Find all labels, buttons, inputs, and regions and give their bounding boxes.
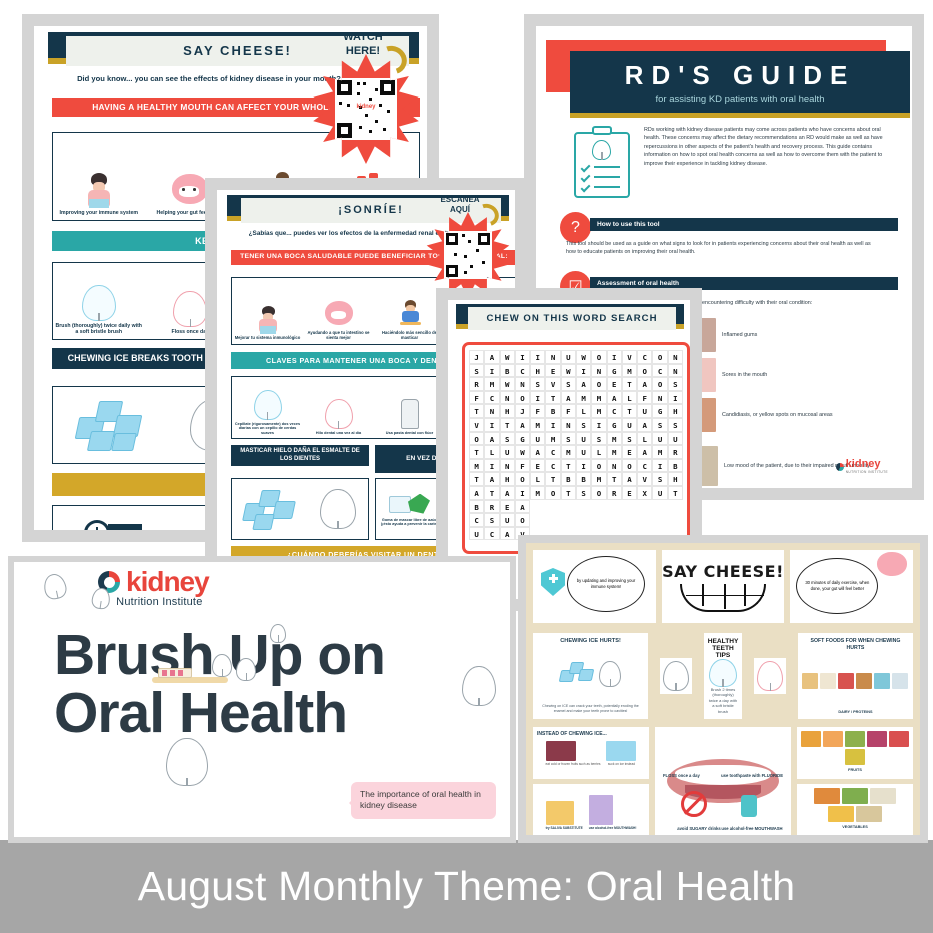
word-search-cell: U — [530, 432, 545, 446]
word-search-cell: S — [469, 364, 484, 378]
toothpaste-tube-icon — [401, 399, 419, 429]
rds-guide-intro: RDs working with kidney disease patients… — [644, 126, 898, 168]
word-search-cell — [530, 500, 545, 514]
word-search-cell: T — [668, 486, 683, 500]
section-how-to-use-header: How to use this tool — [590, 218, 898, 231]
word-search-cell: V — [637, 472, 652, 486]
poster-cover-brush-up[interactable]: kidney Nutrition Institute Brush Up on O… — [8, 556, 516, 843]
card-label: FRUITS — [801, 768, 909, 772]
word-search-cell — [622, 513, 637, 527]
word-search-cell: A — [637, 377, 652, 391]
cartoon-tooth-icon — [166, 738, 208, 786]
word-search-cell: I — [545, 418, 560, 432]
word-search-cell: U — [561, 350, 576, 364]
cheese-card-chewing-ice-hurts: CHEWING ICE HURTS! Chewing on ICE can cr… — [533, 633, 648, 719]
word-search-cell: M — [561, 445, 576, 459]
word-search-cell: U — [469, 527, 484, 541]
kidney-logo: kidney NUTRITION INSTITUTE — [836, 459, 888, 474]
word-search-cell — [561, 513, 576, 527]
key-item: Usa pasta dental con flúor — [374, 377, 445, 438]
word-search-cell: B — [500, 364, 515, 378]
speech-bubble-gut: 30 minutes of daily exercise, when done,… — [796, 558, 878, 614]
word-search-cell: S — [622, 432, 637, 446]
word-search-cell: C — [607, 404, 622, 418]
benefit-item: Haciéndolo más sencillo de masticar — [374, 278, 445, 344]
card-title: CHEWING ICE HURTS! — [560, 638, 621, 644]
word-search-cell: F — [561, 404, 576, 418]
gut-illustration — [322, 299, 356, 331]
word-search-cell — [591, 513, 606, 527]
word-search-cell: S — [591, 432, 606, 446]
cracked-tooth-icon — [599, 661, 621, 687]
word-search-cell: O — [515, 513, 530, 527]
word-search-cell: A — [500, 486, 515, 500]
scan-line-2: AQUÍ — [429, 205, 491, 215]
word-search-cell: I — [530, 391, 545, 405]
word-search-cell: I — [515, 350, 530, 364]
word-search-cell: M — [484, 377, 499, 391]
cheese-card-mouth-diagram: FLOSS once a day use toothpaste with FLU… — [655, 727, 791, 835]
word-search-cell: U — [500, 445, 515, 459]
ice-illustration-row-left — [231, 478, 369, 540]
when-item: Every 6 months! — [53, 506, 175, 530]
word-search-cell: U — [652, 432, 667, 446]
poster-say-cheese-grid[interactable]: by updating and improving your immune sy… — [518, 535, 928, 843]
poster-title: SAY CHEESE! — [183, 43, 292, 58]
toothbrush-icon — [152, 668, 228, 684]
tooth-brushing-icon — [254, 390, 282, 420]
word-search-cell: E — [545, 364, 560, 378]
word-search-cell: L — [622, 391, 637, 405]
word-search-cell: T — [607, 472, 622, 486]
word-search-cell: G — [652, 404, 667, 418]
word-search-cell — [576, 513, 591, 527]
clock-calendar-icon — [84, 517, 144, 530]
tooth-floss-icon — [173, 291, 207, 327]
band-chewing-ice-left: MASTICAR HIELO DAÑA EL ESMALTE DE LOS DI… — [231, 445, 369, 466]
gear-question-icon: ? — [560, 212, 591, 243]
word-search-cell: O — [652, 350, 667, 364]
word-search-cell: N — [561, 418, 576, 432]
word-search-cell: T — [545, 391, 560, 405]
word-search-cell: I — [484, 459, 499, 473]
word-search-cell: N — [607, 459, 622, 473]
benefit-item: Ayudando a que tu intestino se sienta me… — [303, 278, 374, 344]
clipboard-tooth-icon — [570, 126, 634, 200]
scan-line-1: ESCANEA — [429, 195, 491, 205]
ice-cubes-icon — [560, 661, 594, 687]
word-search-cell: A — [622, 472, 637, 486]
frozen-fruit-photo — [546, 741, 576, 761]
word-search-cell: B — [545, 404, 560, 418]
word-search-cell: O — [515, 472, 530, 486]
word-search-cell: S — [500, 432, 515, 446]
soft-foods-photos — [802, 673, 909, 689]
word-search-cell: R — [484, 500, 499, 514]
word-search-cell: M — [652, 445, 667, 459]
saliva-substitute-icon — [546, 801, 574, 825]
cheese-card-instead-of-ice: INSTEAD OF CHEWING ICE... eat cold or fr… — [533, 727, 649, 779]
kidney-logo-mark — [836, 463, 844, 471]
word-search-cell: M — [530, 486, 545, 500]
speech-bubble-immune: by updating and improving your immune sy… — [567, 556, 645, 612]
word-search-cell: M — [591, 391, 606, 405]
word-search-cell: W — [561, 364, 576, 378]
word-search-cell: C — [484, 527, 499, 541]
word-search-cell: H — [530, 364, 545, 378]
word-search-cell: G — [607, 418, 622, 432]
word-search-cell: I — [484, 364, 499, 378]
poster-title: ¡SONRÍE! — [338, 204, 404, 216]
watch-line-1: WATCH — [323, 31, 403, 45]
chewing-gum-icon — [389, 492, 433, 518]
word-search-cell — [530, 513, 545, 527]
word-search-cell: S — [652, 418, 667, 432]
smile-illustration — [680, 584, 766, 612]
word-search-cell: O — [652, 377, 667, 391]
qr-code[interactable]: kidney — [335, 78, 397, 140]
key-item: Cepillate (rigurosamente) dos veces diar… — [232, 377, 303, 438]
tooth-mascot-cell — [654, 633, 698, 719]
flag-mouthwash: use alcohol-free MOUTHWASH — [719, 826, 785, 831]
word-search-cell: C — [515, 364, 530, 378]
gut-illustration — [877, 552, 907, 576]
word-search-cell: A — [515, 418, 530, 432]
kidney-logo: kidney Nutrition Institute — [98, 568, 209, 608]
qr-code[interactable] — [444, 231, 492, 279]
word-search-cell — [668, 513, 683, 527]
word-search-cell: F — [515, 459, 530, 473]
word-search-cell — [622, 500, 637, 514]
word-search-cell: S — [652, 472, 667, 486]
word-search-cell: J — [515, 404, 530, 418]
word-search-cell: V — [469, 418, 484, 432]
word-search-cell: T — [561, 486, 576, 500]
word-search-cell: A — [637, 418, 652, 432]
word-search-cell — [668, 500, 683, 514]
cover-title-line-1: Brush Up on — [54, 626, 414, 684]
word-search-cell: F — [469, 391, 484, 405]
word-search-cell: M — [469, 459, 484, 473]
word-search-cell: S — [530, 377, 545, 391]
immune-illustration — [80, 171, 118, 211]
card-title: HEALTHY TEETH TIPS — [708, 638, 739, 659]
cheese-bottom-block: INSTEAD OF CHEWING ICE... eat cold or fr… — [533, 727, 913, 835]
qr-center-label: kidney — [353, 104, 379, 111]
word-search-cell: A — [530, 445, 545, 459]
word-search-cell: N — [500, 391, 515, 405]
cheese-card-immune: by updating and improving your immune sy… — [533, 550, 656, 623]
word-search-cell: N — [545, 350, 560, 364]
word-search-cell: T — [469, 472, 484, 486]
word-search-cell: U — [652, 486, 667, 500]
word-search-cell: B — [576, 472, 591, 486]
word-search-cell: O — [545, 486, 560, 500]
cover-title-line-2: Oral Health — [54, 684, 414, 742]
word-search-cell: E — [622, 445, 637, 459]
word-search-cell: V — [545, 377, 560, 391]
cheese-card-saliva: try SALIVA SUBSTITUTE use alcohol-free M… — [533, 784, 649, 836]
word-search-cell: U — [637, 404, 652, 418]
no-sugary-drinks-icon — [681, 791, 707, 817]
kidney-logo-word: kidney — [846, 459, 888, 470]
word-search-cell: S — [561, 377, 576, 391]
word-search-cell: H — [500, 404, 515, 418]
word-search-cell: C — [637, 350, 652, 364]
word-search-cell: O — [591, 486, 606, 500]
word-search-cell: N — [515, 377, 530, 391]
word-search-cell: B — [561, 472, 576, 486]
word-search-cell: A — [484, 350, 499, 364]
word-search-cell — [545, 513, 560, 527]
word-search-cell: C — [469, 513, 484, 527]
word-search-cell: A — [607, 391, 622, 405]
word-search-cell: L — [576, 404, 591, 418]
benefit-item: Mejorar tu sistema inmunológico — [232, 278, 303, 344]
word-search-cell: T — [500, 418, 515, 432]
toothbrush-tooth-icon — [757, 661, 783, 691]
word-search-cell: G — [607, 364, 622, 378]
word-search-cell: E — [530, 459, 545, 473]
word-search-cell: I — [484, 418, 499, 432]
word-search-cell — [637, 513, 652, 527]
key-item: Brush (thoroughly) twice daily with a so… — [53, 263, 145, 339]
subhead-question: Did you know... you can see the effects … — [44, 74, 374, 84]
cartoon-tooth-icon — [270, 624, 286, 643]
cheese-card-vegetables: VEGETABLES — [797, 784, 913, 836]
word-search-cell: E — [622, 486, 637, 500]
word-search-cell: M — [591, 404, 606, 418]
screenshot-canvas: SAY CHEESE! WATCH HERE! — [0, 0, 933, 933]
word-search-cell: A — [469, 486, 484, 500]
word-search-cell: I — [652, 459, 667, 473]
rds-guide-subtitle: for assisting KD patients with oral heal… — [656, 94, 825, 105]
cover-sheet: kidney Nutrition Institute Brush Up on O… — [14, 562, 510, 837]
benefit-item: Improving your immune system — [53, 133, 145, 220]
word-search-cell: I — [576, 459, 591, 473]
ice-cubes-icon — [77, 397, 143, 453]
cheese-middle-row: CHEWING ICE HURTS! Chewing on ICE can cr… — [533, 633, 913, 719]
item-label: try SALIVA SUBSTITUTE — [546, 827, 583, 831]
ice-photo — [606, 741, 636, 761]
word-search-cell: E — [500, 500, 515, 514]
key-item: Hilo dental una vez al día — [303, 377, 374, 438]
word-search-cell: U — [576, 432, 591, 446]
word-search-cell: I — [576, 364, 591, 378]
footer-banner: August Monthly Theme: Oral Health — [0, 840, 933, 933]
card-body: Brush 2 times (thoroughly) twice a day w… — [708, 687, 739, 714]
mouthwash-icon — [741, 795, 757, 817]
word-search-cell: O — [591, 377, 606, 391]
word-search-cell: T — [484, 486, 499, 500]
word-search-cell: F — [637, 391, 652, 405]
card-title: SOFT FOODS FOR WHEN CHEWING HURTS — [802, 638, 909, 652]
word-search-cell: L — [484, 445, 499, 459]
cartoon-tooth-icon — [462, 666, 496, 706]
word-search-cell: T — [561, 459, 576, 473]
word-search-cell: S — [668, 418, 683, 432]
word-search-cell: N — [652, 391, 667, 405]
word-search-cell: T — [469, 404, 484, 418]
word-search-cell: R — [469, 377, 484, 391]
card-sub: DAIRY / PROTEINS — [838, 710, 872, 714]
cheese-grid-background: by updating and improving your immune sy… — [526, 543, 920, 835]
word-search-cell: B — [668, 459, 683, 473]
word-search-cell: O — [515, 391, 530, 405]
word-search-cell: X — [637, 486, 652, 500]
word-search-cell: I — [530, 350, 545, 364]
word-search-cell: S — [668, 377, 683, 391]
word-search-cell: T — [622, 377, 637, 391]
word-search-cell: I — [515, 486, 530, 500]
word-search-cell: W — [500, 377, 515, 391]
card-body: Chewing on ICE can crack your teeth, pot… — [537, 704, 644, 714]
word-search-cell: A — [561, 391, 576, 405]
word-search-cell: H — [500, 472, 515, 486]
gold-accent-bar — [570, 113, 910, 118]
word-search-cell: G — [515, 432, 530, 446]
tooth-floss-icon — [325, 399, 353, 429]
word-search-cell: N — [500, 459, 515, 473]
word-search-cell: S — [561, 432, 576, 446]
word-search-cell — [561, 500, 576, 514]
toothbrush-cell — [748, 633, 792, 719]
word-search-cell: T — [469, 445, 484, 459]
word-search-frame: JAWIINUWOIVCONSIBCHEWINGMOCNRMWNSVSAOETA… — [462, 342, 690, 554]
scan-here-label: ESCANEA AQUÍ — [429, 195, 491, 215]
item-label: use alcohol-free MOUTHWASH! — [589, 827, 637, 831]
word-search-cell: R — [668, 445, 683, 459]
watch-here-label: WATCH HERE! — [323, 31, 403, 59]
tooth-brushing-icon — [82, 285, 116, 321]
word-search-cell: O — [637, 364, 652, 378]
word-search-cell: U — [500, 513, 515, 527]
word-search-cell: F — [530, 404, 545, 418]
word-search-cell: M — [607, 445, 622, 459]
word-search-cell: A — [576, 377, 591, 391]
word-search-grid: JAWIINUWOIVCONSIBCHEWINGMOCNRMWNSVSAOETA… — [469, 350, 683, 540]
word-search-cell: I — [607, 350, 622, 364]
word-search-cell: C — [484, 391, 499, 405]
word-search-cell: H — [668, 404, 683, 418]
eating-illustration — [393, 299, 427, 331]
word-search-cell: A — [515, 500, 530, 514]
word-search-cell: W — [515, 445, 530, 459]
word-search-cell: A — [484, 472, 499, 486]
word-search-cell: U — [622, 418, 637, 432]
word-search-cell: L — [530, 472, 545, 486]
word-search-cell: S — [576, 418, 591, 432]
word-search-cell: N — [668, 350, 683, 364]
word-search-cell: O — [469, 432, 484, 446]
cheese-card-title: SAY CHEESE! — [662, 550, 785, 623]
word-search-cell: S — [576, 486, 591, 500]
word-search-cell: J — [469, 350, 484, 364]
word-search-cell: C — [545, 459, 560, 473]
word-search-cell — [607, 513, 622, 527]
say-cheese-title: SAY CHEESE! — [662, 562, 784, 581]
word-search-cell: W — [576, 350, 591, 364]
word-search-cell: N — [668, 364, 683, 378]
header-block: CHEW ON THIS WORD SEARCH — [456, 304, 684, 332]
flag-floss: FLOSS once a day — [663, 773, 700, 778]
word-search-cell — [576, 500, 591, 514]
cheese-card-gut: 30 minutes of daily exercise, when done,… — [790, 550, 913, 623]
word-search-cell: W — [500, 350, 515, 364]
word-search-cell: A — [500, 527, 515, 541]
word-search-cell: L — [637, 432, 652, 446]
word-search-cell: S — [484, 513, 499, 527]
word-search-cell: R — [607, 486, 622, 500]
poster-title-plate: CHEW ON THIS WORD SEARCH — [468, 307, 676, 330]
word-search-cell: O — [591, 459, 606, 473]
word-search-cell: U — [576, 445, 591, 459]
poster-title: CHEW ON THIS WORD SEARCH — [486, 313, 657, 324]
word-search-cell — [545, 500, 560, 514]
word-search-cell: M — [576, 391, 591, 405]
section-how-to-use-body: This tool should be used as a guide on w… — [566, 240, 882, 257]
cheese-card-healthy-tips: HEALTHY TEETH TIPS Brush 2 times (thorou… — [704, 633, 743, 719]
word-search-cell: I — [591, 418, 606, 432]
brushing-tooth-icon — [709, 659, 737, 687]
ice-cubes-icon — [244, 487, 296, 531]
cover-callout-bubble: The importance of oral health in kidney … — [351, 782, 496, 819]
word-search-cell: C — [652, 364, 667, 378]
cheese-card-soft-foods: SOFT FOODS FOR WHEN CHEWING HURTS DAIRY … — [798, 633, 913, 719]
word-search-cell: C — [637, 459, 652, 473]
item-label: eat cold or frozen fruits such as berrie… — [546, 763, 601, 767]
word-search-cell: N — [484, 404, 499, 418]
word-search-cell: N — [591, 364, 606, 378]
flag-fluoride: use toothpaste with FLUORIDE — [721, 773, 783, 778]
footer-caption: August Monthly Theme: Oral Health — [138, 863, 796, 910]
word-search-cell: I — [668, 391, 683, 405]
word-search-cell: T — [545, 472, 560, 486]
word-search-cell: B — [469, 500, 484, 514]
happy-tooth-icon — [663, 661, 689, 691]
word-search-cell: M — [622, 364, 637, 378]
rds-guide-title: RD'S GUIDE — [625, 60, 856, 91]
navy-title-block: RD'S GUIDE for assisting KD patients wit… — [570, 51, 910, 113]
word-search-cell: L — [591, 445, 606, 459]
card-title: INSTEAD OF CHEWING ICE... — [537, 731, 645, 737]
kidney-logo-word: kidney — [126, 568, 209, 596]
immune-illustration — [253, 304, 283, 336]
word-search-cell: A — [484, 432, 499, 446]
card-label: VEGETABLES — [801, 825, 909, 829]
word-search-cell: O — [591, 350, 606, 364]
watch-line-2: HERE! — [323, 45, 403, 59]
word-search-cell — [652, 513, 667, 527]
word-search-cell: M — [607, 432, 622, 446]
cheese-top-row: by updating and improving your immune sy… — [533, 550, 913, 623]
word-search-cell: U — [668, 432, 683, 446]
word-search-cell — [607, 500, 622, 514]
word-search-cell: M — [545, 432, 560, 446]
cover-title: Brush Up on Oral Health — [54, 626, 414, 742]
cracked-tooth-icon — [320, 489, 356, 529]
word-search-cell: H — [668, 472, 683, 486]
word-search-cell — [591, 500, 606, 514]
word-search-cell: T — [622, 404, 637, 418]
item-label: suck on ice instead — [606, 763, 636, 767]
cartoon-tooth-icon — [236, 658, 256, 681]
word-search-cell — [652, 500, 667, 514]
word-search-cell: C — [545, 445, 560, 459]
word-search-cell: A — [637, 445, 652, 459]
kidney-logo-sub: Nutrition Institute — [116, 596, 202, 608]
word-search-cell: M — [530, 418, 545, 432]
